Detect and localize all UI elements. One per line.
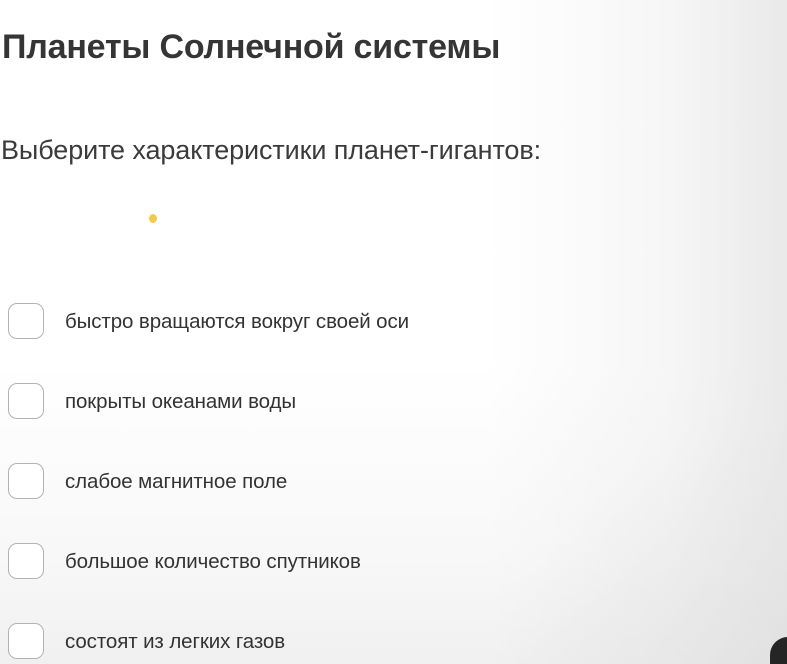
answer-options-list: быстро вращаются вокруг своей осипокрыты… [0, 303, 787, 664]
answer-option-row[interactable]: состоят из легких газов [0, 623, 787, 664]
answer-option-label: состоят из легких газов [65, 629, 285, 655]
answer-option-row[interactable]: слабое магнитное поле [0, 463, 787, 543]
question-prompt: Выберите характеристики планет-гигантов: [1, 131, 541, 169]
answer-option-checkbox[interactable] [8, 543, 44, 579]
answer-option-label: быстро вращаются вокруг своей оси [65, 309, 409, 335]
answer-option-checkbox[interactable] [8, 303, 44, 339]
yellow-dot-icon [149, 214, 157, 223]
page-title: Планеты Солнечной системы [2, 25, 500, 69]
answer-option-row[interactable]: покрыты океанами воды [0, 383, 787, 463]
answer-option-row[interactable]: быстро вращаются вокруг своей оси [0, 303, 787, 383]
answer-option-checkbox[interactable] [8, 623, 44, 659]
answer-option-label: покрыты океанами воды [65, 389, 296, 415]
answer-option-label: слабое магнитное поле [65, 469, 287, 495]
answer-option-checkbox[interactable] [8, 463, 44, 499]
answer-option-row[interactable]: большое количество спутников [0, 543, 787, 623]
answer-option-checkbox[interactable] [8, 383, 44, 419]
quiz-screen: Планеты Солнечной системы Выберите харак… [0, 0, 787, 664]
answer-option-label: большое количество спутников [65, 549, 361, 575]
